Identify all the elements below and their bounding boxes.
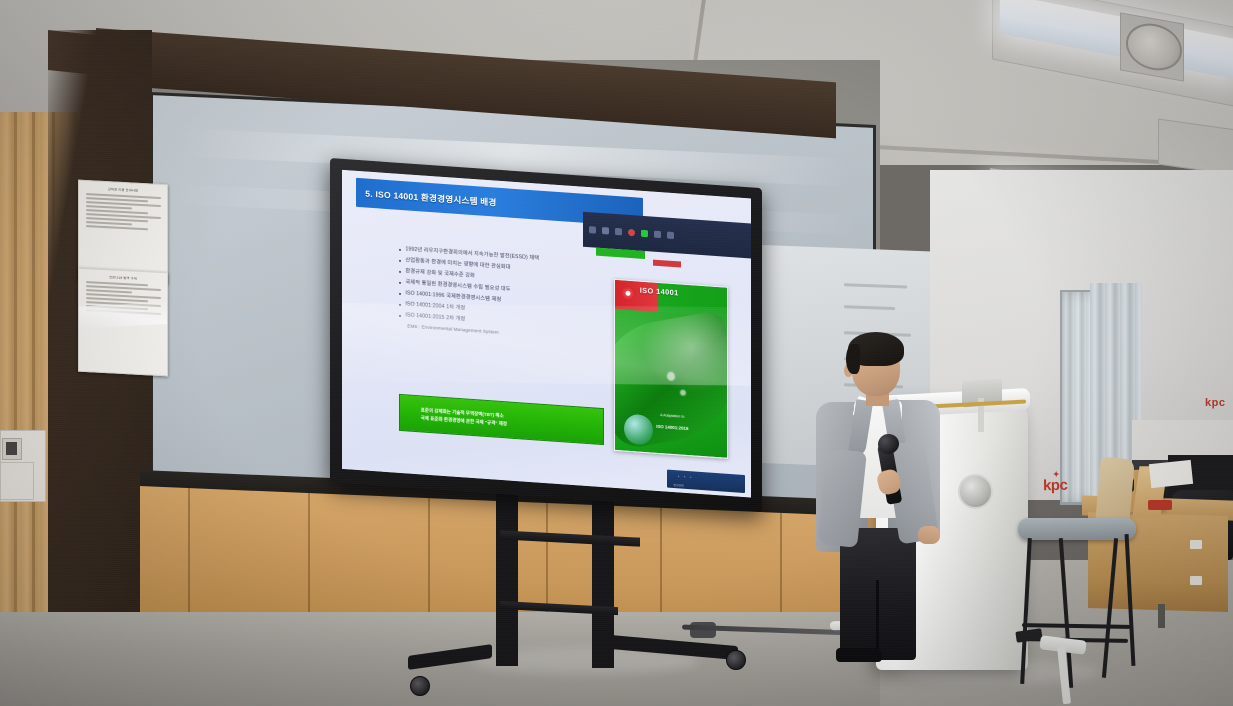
recording-indicator bbox=[653, 259, 682, 267]
iso-14001-cover-image: ISO 14001 A Adaptation to ISO 14001:2015 bbox=[614, 279, 728, 459]
bullet-text: ISO 14001:2004 1차 개정 bbox=[405, 301, 465, 313]
bullet-text: 환경규제 강화 및 국제수준 강화 bbox=[405, 268, 475, 280]
wall-tv[interactable]: 5. ISO 14001 환경경영시스템 배경 1992년 리우지구환경회의에서… bbox=[330, 158, 762, 512]
stool-leg bbox=[1020, 538, 1032, 684]
bullet-text: ISO 14001:2015 2차 개정 bbox=[405, 312, 465, 324]
bullet-dot bbox=[399, 304, 401, 306]
red-object bbox=[1148, 500, 1172, 510]
microphone-icon[interactable] bbox=[589, 226, 596, 233]
presenter bbox=[800, 330, 950, 660]
podium-kpc-logo: kpc ✦ bbox=[1043, 477, 1068, 494]
ceiling-panel-far-right bbox=[1158, 119, 1233, 176]
reactions-icon[interactable] bbox=[654, 231, 661, 238]
bullet-dot bbox=[399, 271, 401, 273]
bullet-dot bbox=[399, 314, 401, 316]
slide-callout-box: 표준의 강제화는 기술적 무역장벽(TBT) 해소 국제 표준화 환경경영에 관… bbox=[399, 394, 604, 446]
desk-drawer-label bbox=[1190, 540, 1202, 549]
tv-screen[interactable]: 5. ISO 14001 환경경영시스템 배경 1992년 리우지구환경회의에서… bbox=[342, 170, 751, 498]
paper-on-box bbox=[1149, 460, 1193, 488]
podium-knob[interactable] bbox=[958, 474, 993, 509]
tv-stand-caster-right bbox=[726, 650, 746, 670]
bullet-dot bbox=[399, 260, 401, 262]
stool-backrest bbox=[1095, 457, 1135, 526]
seminar-room-photo: kpc 강의장 이용 안내사항 코로나19 방역 수칙 bbox=[0, 0, 1233, 706]
wall-label-card bbox=[0, 462, 34, 500]
hand-right bbox=[918, 526, 940, 544]
slide-title: 5. ISO 14001 환경경영시스템 배경 bbox=[365, 187, 496, 208]
whiteboard-writing bbox=[844, 283, 907, 288]
chat-icon[interactable] bbox=[615, 228, 622, 235]
tv-stand-post-left bbox=[496, 470, 518, 666]
footer-dots: • • • bbox=[678, 474, 693, 479]
camera-icon[interactable] bbox=[602, 227, 609, 234]
wall-notice-lower[interactable]: 코로나19 방역 수칙 bbox=[78, 268, 168, 377]
shoe bbox=[836, 648, 882, 662]
wall-kpc-logo: kpc bbox=[1205, 397, 1225, 409]
slide-footer: • • • 환경경영 bbox=[667, 470, 745, 493]
desk-leg bbox=[1158, 604, 1165, 628]
desk-drawer-label bbox=[1190, 576, 1202, 585]
record-icon[interactable] bbox=[628, 229, 635, 236]
bullet-dot bbox=[399, 249, 401, 251]
hair-side bbox=[846, 344, 860, 374]
stool-leg bbox=[1125, 534, 1136, 666]
more-icon[interactable] bbox=[667, 232, 674, 239]
wall-switch[interactable] bbox=[2, 438, 22, 460]
notice-glare bbox=[78, 301, 168, 329]
footnote-text: EMS : Environmental Management System bbox=[407, 323, 499, 336]
stool-leg bbox=[1102, 538, 1118, 678]
bar-stool bbox=[1012, 498, 1140, 688]
share-screen-icon[interactable] bbox=[641, 230, 648, 237]
star-icon: ✦ bbox=[1053, 470, 1059, 479]
water-drop-icon bbox=[667, 372, 675, 381]
slide-bullet-list: 1992년 리우지구환경회의에서 지속가능한 발전(ESSD) 채택 산업활동과… bbox=[399, 246, 604, 347]
tv-stand-caster-left bbox=[410, 676, 430, 696]
water-drop-icon bbox=[680, 390, 686, 396]
stool-seat bbox=[1018, 518, 1136, 540]
flower-icon bbox=[621, 285, 636, 301]
bullet-dot bbox=[399, 293, 401, 295]
whiteboard-writing bbox=[844, 305, 895, 310]
footer-text: 환경경영 bbox=[673, 483, 683, 488]
bullet-dot bbox=[399, 282, 401, 284]
presentation-slide: 5. ISO 14001 환경경영시스템 배경 1992년 리우지구환경회의에서… bbox=[342, 170, 751, 498]
